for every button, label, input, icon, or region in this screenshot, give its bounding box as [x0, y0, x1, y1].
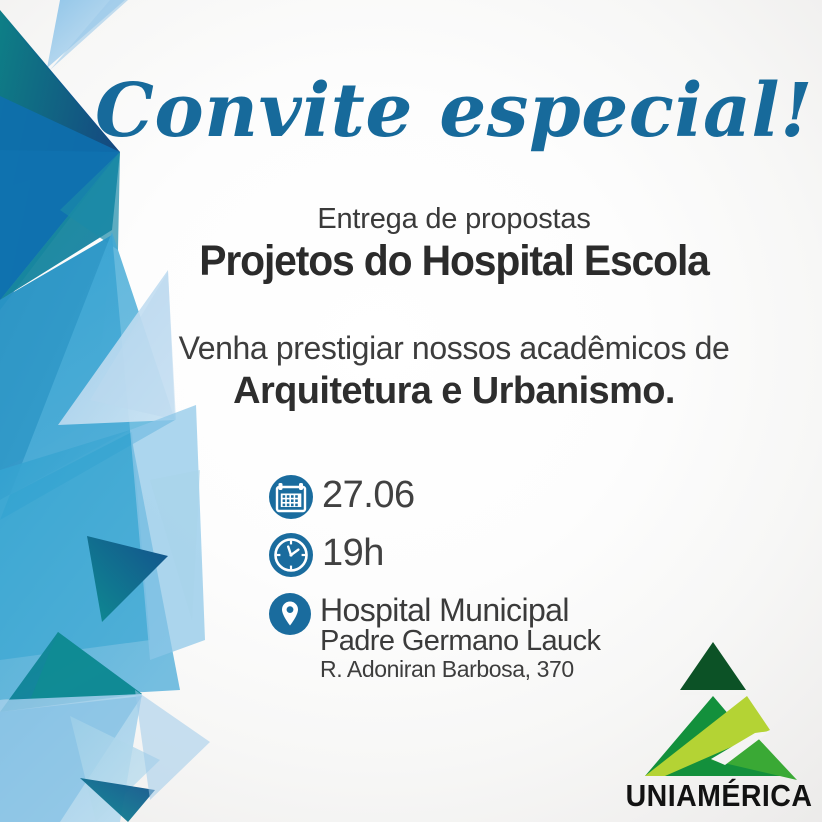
subhead-block: Entrega de propostas Projetos do Hospita…	[0, 203, 822, 288]
event-location: Hospital Municipal Padre Germano Lauck R…	[320, 592, 600, 682]
pitch-line-1: Venha prestigiar nossos acadêmicos de	[86, 330, 822, 367]
location-pin-icon	[268, 592, 312, 636]
detail-row-date: 27.06	[268, 474, 688, 520]
brand-logo: UNIAMÉRICA	[618, 638, 808, 814]
event-date: 27.06	[322, 474, 415, 516]
clock-icon	[268, 532, 314, 578]
location-line-1: Hospital Municipal	[320, 592, 569, 628]
location-line-3: R. Adoniran Barbosa, 370	[320, 656, 574, 682]
invitation-poster: Convite especial! Entrega de propostas P…	[0, 0, 822, 822]
detail-row-time: 19h	[268, 532, 688, 578]
headline-block: Convite especial!	[0, 74, 822, 148]
calendar-icon	[268, 474, 314, 520]
pitch-block: Venha prestigiar nossos acadêmicos de Ar…	[0, 330, 822, 416]
page-title: Convite especial!	[86, 74, 822, 148]
brand-name: UNIAMÉRICA	[626, 778, 801, 814]
event-time: 19h	[322, 532, 384, 574]
subhead-title: Projetos do Hospital Escola	[104, 236, 803, 288]
uniamerica-triangle-mark	[629, 638, 797, 780]
location-line-2: Padre Germano Lauck	[320, 625, 600, 657]
pitch-line-2: Arquitetura e Urbanismo.	[86, 367, 822, 416]
subhead-eyebrow: Entrega de propostas	[86, 203, 822, 235]
